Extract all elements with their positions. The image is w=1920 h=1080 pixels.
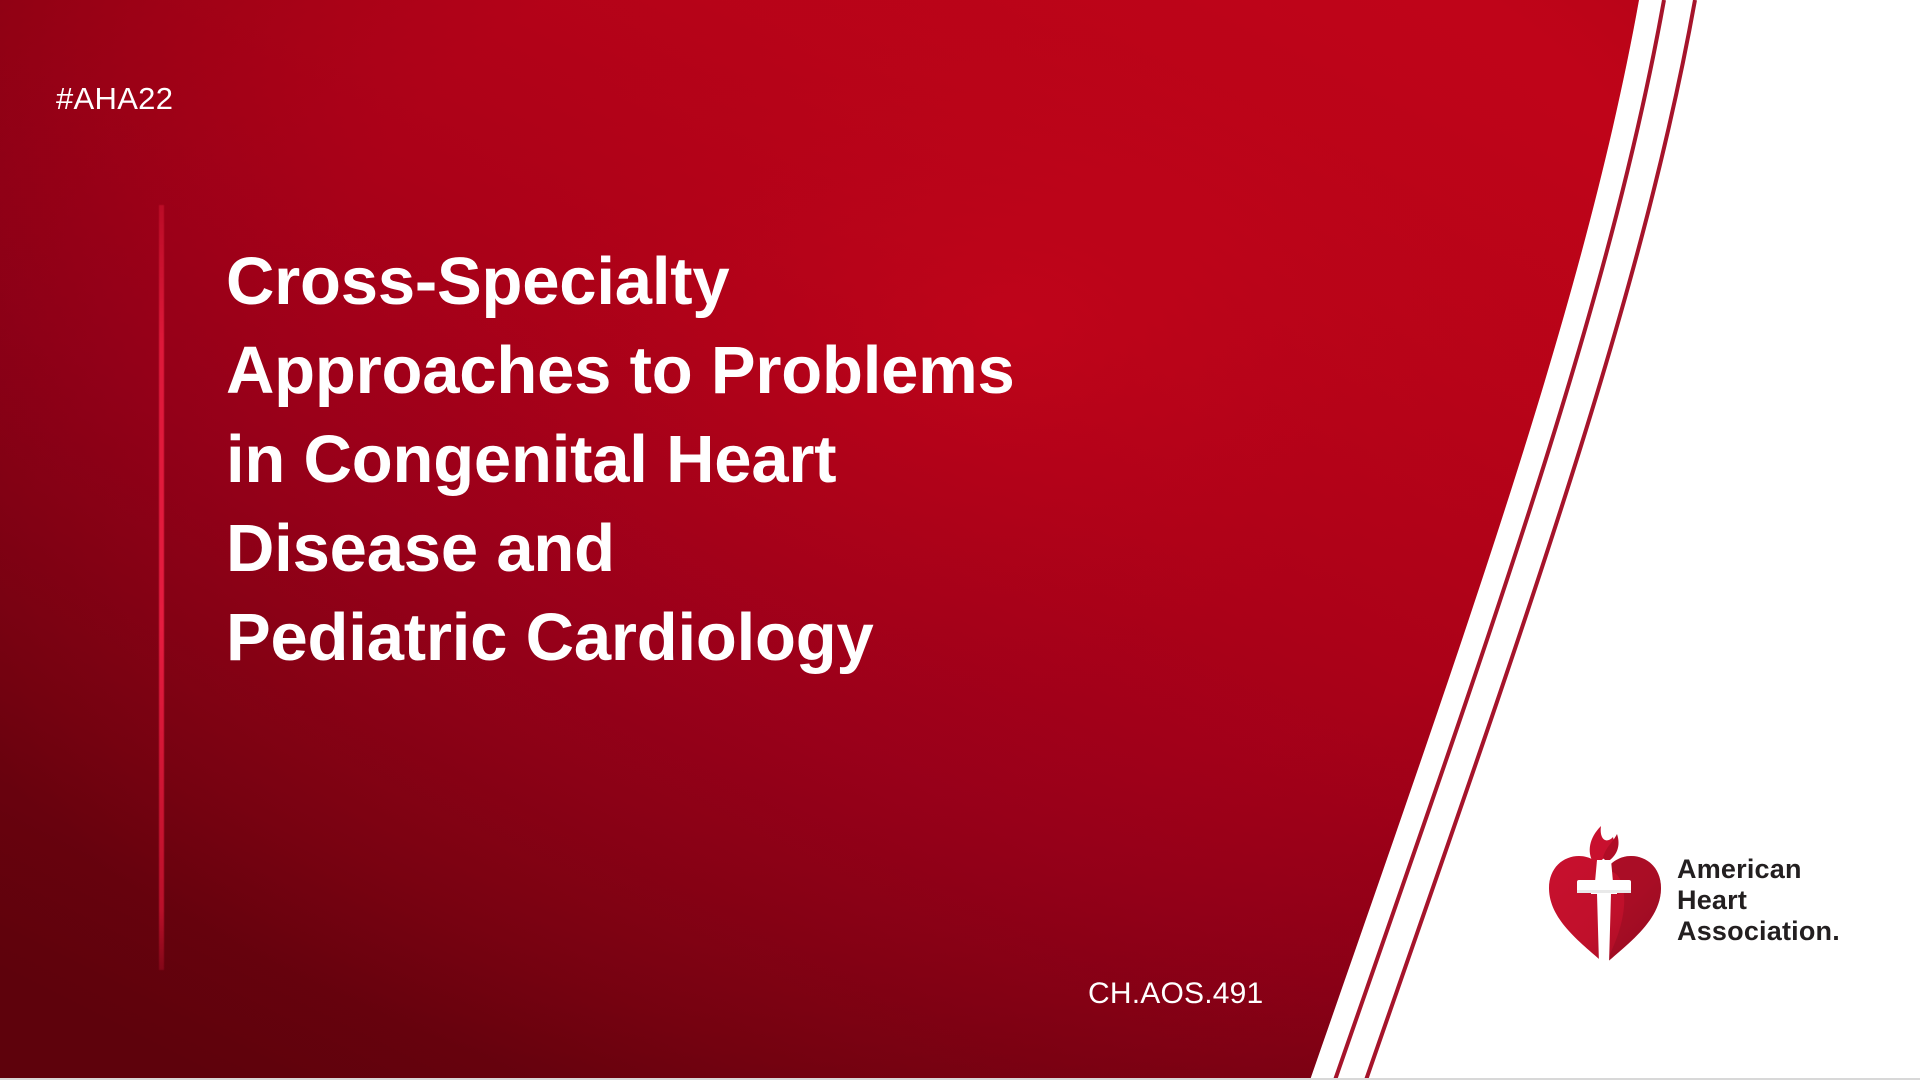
presentation-title-slide: #AHA22 Cross-Specialty Approaches to Pro… [0, 0, 1920, 1080]
event-hashtag: #AHA22 [56, 81, 173, 117]
title-line-2: Approaches to Problems [226, 326, 1356, 415]
title-line-1: Cross-Specialty [226, 237, 1356, 326]
title-line-4: Disease and [226, 504, 1356, 593]
wordmark-line-2: Heart [1677, 885, 1840, 916]
page-title: Cross-Specialty Approaches to Problems i… [226, 237, 1356, 682]
title-line-5: Pediatric Cardiology [226, 593, 1356, 682]
aha-wordmark: American Heart Association. [1677, 838, 1840, 947]
american-heart-association-logo: American Heart Association. [1547, 820, 1837, 965]
wordmark-line-1: American [1677, 854, 1840, 885]
title-line-3: in Congenital Heart [226, 415, 1356, 504]
vertical-accent-rule [159, 205, 164, 970]
torch-crossbar-shadow [1577, 890, 1631, 893]
session-code: CH.AOS.491 [1088, 977, 1263, 1011]
heart-with-torch-icon [1547, 822, 1663, 964]
wordmark-line-3: Association. [1677, 916, 1840, 947]
